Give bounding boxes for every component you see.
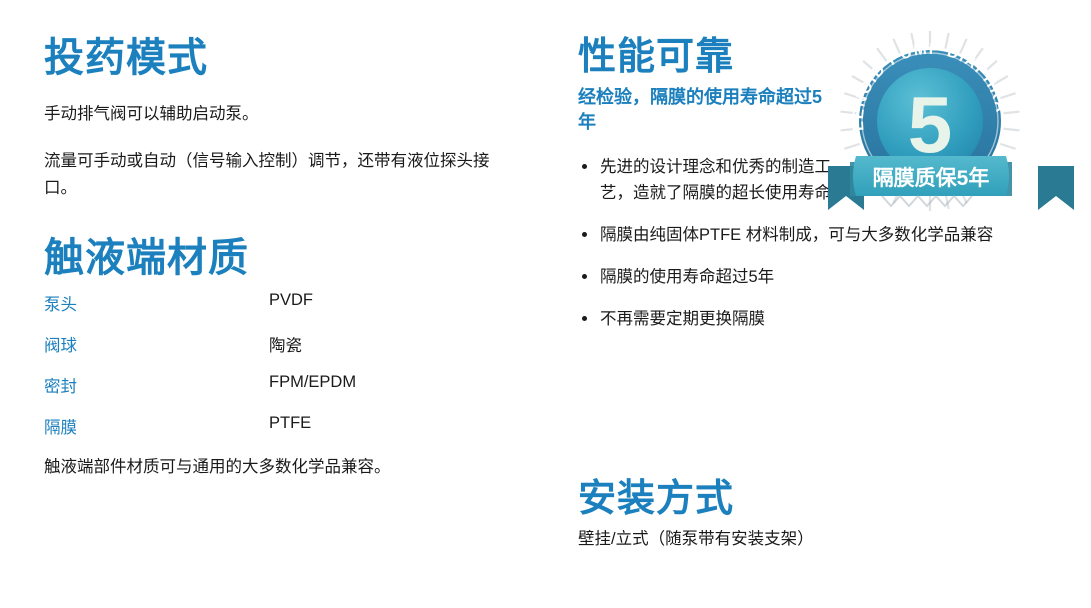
wetted-materials-title: 触液端材质: [44, 236, 514, 281]
ribbon-text: 隔膜质保5年: [873, 166, 990, 190]
spec-sheet-page: 投药模式 手动排气阀可以辅助启动泵。 流量可手动或自动（信号输入控制）调节，还带…: [0, 0, 1091, 608]
wetted-materials-table: 泵头 PVDF 阀球 陶瓷 密封 FPM/EPDM 隔膜 PTFE: [44, 291, 514, 455]
material-value: PVDF: [269, 291, 514, 332]
list-item: 隔膜由纯固体PTFE 材料制成，可与大多数化学品兼容: [578, 222, 1048, 249]
list-item: 隔膜的使用寿命超过5年: [578, 264, 1048, 291]
spacer: [44, 128, 514, 148]
installation-title: 安装方式: [578, 478, 1048, 521]
material-label: 隔膜: [44, 414, 269, 455]
table-row: 泵头 PVDF: [44, 291, 514, 332]
bullet-icon: [582, 274, 587, 279]
material-label: 密封: [44, 373, 269, 414]
list-item-label: 先进的设计理念和优秀的制造工艺，造就了隔膜的超长使用寿命: [600, 158, 831, 203]
wetted-materials-note: 触液端部件材质可与通用的大多数化学品兼容。: [44, 453, 514, 477]
bullet-icon: [582, 232, 587, 237]
warranty-badge: ·SOLENOID PUMP DIAPHRAGM· 5 隔膜质保5年: [820, 24, 1085, 216]
spacer: [44, 202, 514, 236]
left-column: 投药模式 手动排气阀可以辅助启动泵。 流量可手动或自动（信号输入控制）调节，还带…: [44, 36, 514, 494]
list-item-label: 隔膜的使用寿命超过5年: [600, 268, 774, 286]
table-row: 密封 FPM/EPDM: [44, 373, 514, 414]
bullet-icon: [582, 316, 587, 321]
dosing-mode-title: 投药模式: [44, 36, 514, 81]
material-value: PTFE: [269, 414, 514, 455]
ribbon-tail-right: [1038, 166, 1074, 210]
list-item: 不再需要定期更换隔膜: [578, 306, 1048, 333]
material-label: 泵头: [44, 291, 269, 332]
list-item-label: 不再需要定期更换隔膜: [600, 310, 765, 328]
table-row: 阀球 陶瓷: [44, 332, 514, 373]
spacer: [44, 81, 514, 101]
badge-number: 5: [908, 80, 953, 169]
bullet-icon: [582, 164, 587, 169]
installation-block: 安装方式 壁挂/立式（随泵带有安装支架）: [578, 478, 1048, 549]
table-row: 隔膜 PTFE: [44, 414, 514, 455]
material-label: 阀球: [44, 332, 269, 373]
dosing-paragraph-2: 流量可手动或自动（信号输入控制）调节，还带有液位探头接口。: [44, 148, 514, 202]
installation-subtitle: 壁挂/立式（随泵带有安装支架）: [578, 525, 1048, 549]
material-value: FPM/EPDM: [269, 373, 514, 414]
list-item: 先进的设计理念和优秀的制造工艺，造就了隔膜的超长使用寿命: [578, 154, 845, 207]
list-item-label: 隔膜由纯固体PTFE 材料制成，可与大多数化学品兼容: [600, 226, 993, 244]
performance-subtitle: 经检验，隔膜的使用寿命超过5年: [578, 85, 823, 136]
material-value: 陶瓷: [269, 332, 514, 373]
dosing-paragraph-1: 手动排气阀可以辅助启动泵。: [44, 101, 514, 128]
